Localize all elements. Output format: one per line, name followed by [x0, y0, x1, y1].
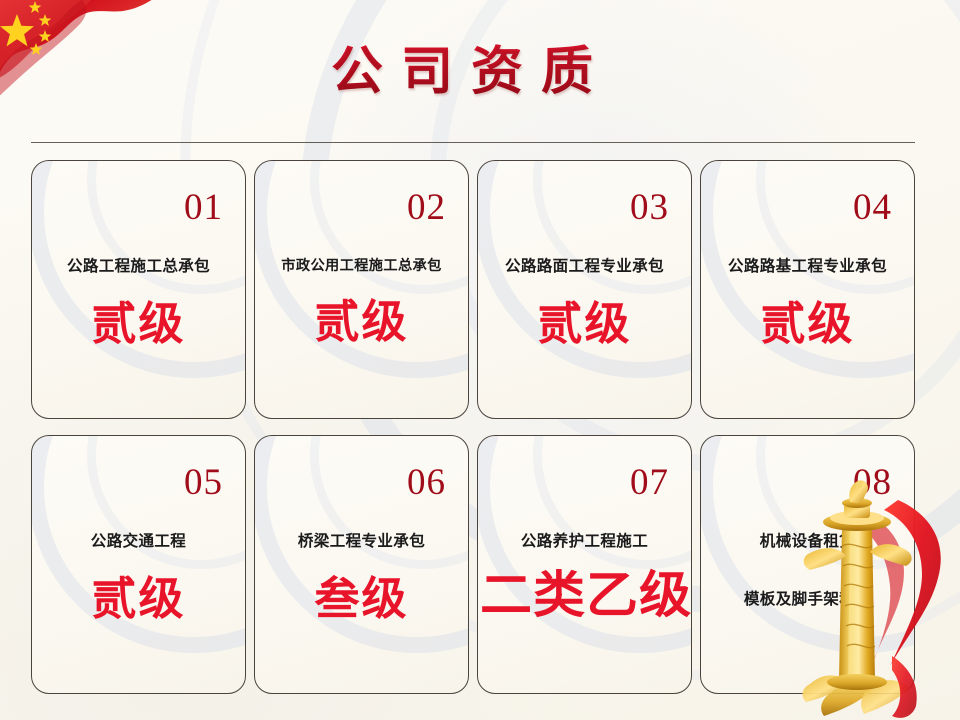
card-title: 公路工程施工总承包	[38, 257, 239, 278]
qualification-card-01[interactable]: 01 公路工程施工总承包 贰级	[31, 160, 246, 419]
slide-canvas: 公司资质 01 公路工程施工总承包 贰级 02 市政公用工程施工总承包 贰级	[0, 0, 960, 720]
card-grade: 二类乙级	[480, 569, 689, 622]
qualification-card-02[interactable]: 02 市政公用工程施工总承包 贰级	[254, 160, 469, 419]
card-number: 01	[184, 189, 223, 226]
card-grade: 贰级	[484, 300, 685, 347]
card-title: 公路路基工程专业承包	[707, 257, 908, 278]
qualification-card-08[interactable]: 08 机械设备租赁 模板及脚手架租赁	[700, 435, 915, 694]
card-grade: 贰级	[707, 300, 908, 347]
qualification-card-07[interactable]: 07 公路养护工程施工 二类乙级	[477, 435, 692, 694]
qualification-card-06[interactable]: 06 桥梁工程专业承包 叁级	[254, 435, 469, 694]
card-title: 公路养护工程施工	[484, 532, 685, 553]
card-body: 公路路面工程专业承包 贰级	[478, 257, 691, 347]
card-title: 桥梁工程专业承包	[261, 532, 462, 553]
card-grade: 贰级	[38, 300, 239, 347]
card-number: 03	[630, 189, 669, 226]
card-body: 桥梁工程专业承包 叁级	[255, 532, 468, 622]
qualification-card-05[interactable]: 05 公路交通工程 贰级	[31, 435, 246, 694]
card-body: 市政公用工程施工总承包 贰级	[255, 257, 468, 345]
card-body: 公路交通工程 贰级	[32, 532, 245, 622]
card-subtitle: 模板及脚手架租赁	[707, 587, 908, 609]
card-body: 机械设备租赁 模板及脚手架租赁	[701, 532, 914, 609]
card-title: 机械设备租赁	[707, 532, 908, 553]
card-grade: 贰级	[261, 298, 462, 345]
card-title: 公路路面工程专业承包	[484, 257, 685, 278]
card-body: 公路路基工程专业承包 贰级	[701, 257, 914, 347]
card-grade: 叁级	[261, 575, 462, 622]
qualification-card-03[interactable]: 03 公路路面工程专业承包 贰级	[477, 160, 692, 419]
card-number: 06	[407, 464, 446, 501]
qualification-card-04[interactable]: 04 公路路基工程专业承包 贰级	[700, 160, 915, 419]
page-title: 公司资质	[331, 44, 629, 101]
card-title: 市政公用工程施工总承包	[261, 257, 462, 276]
card-number: 07	[630, 464, 669, 501]
card-title: 公路交通工程	[38, 532, 239, 553]
card-body: 公路养护工程施工 二类乙级	[478, 532, 691, 621]
card-number: 04	[853, 189, 892, 226]
card-number: 02	[407, 189, 446, 226]
card-number: 08	[853, 464, 892, 501]
card-grade: 贰级	[38, 575, 239, 622]
card-body: 公路工程施工总承包 贰级	[32, 257, 245, 347]
title-block: 公司资质	[0, 44, 960, 101]
card-number: 05	[184, 464, 223, 501]
qualification-card-grid: 01 公路工程施工总承包 贰级 02 市政公用工程施工总承包 贰级 03 公路路…	[31, 160, 915, 694]
title-divider	[31, 142, 915, 143]
